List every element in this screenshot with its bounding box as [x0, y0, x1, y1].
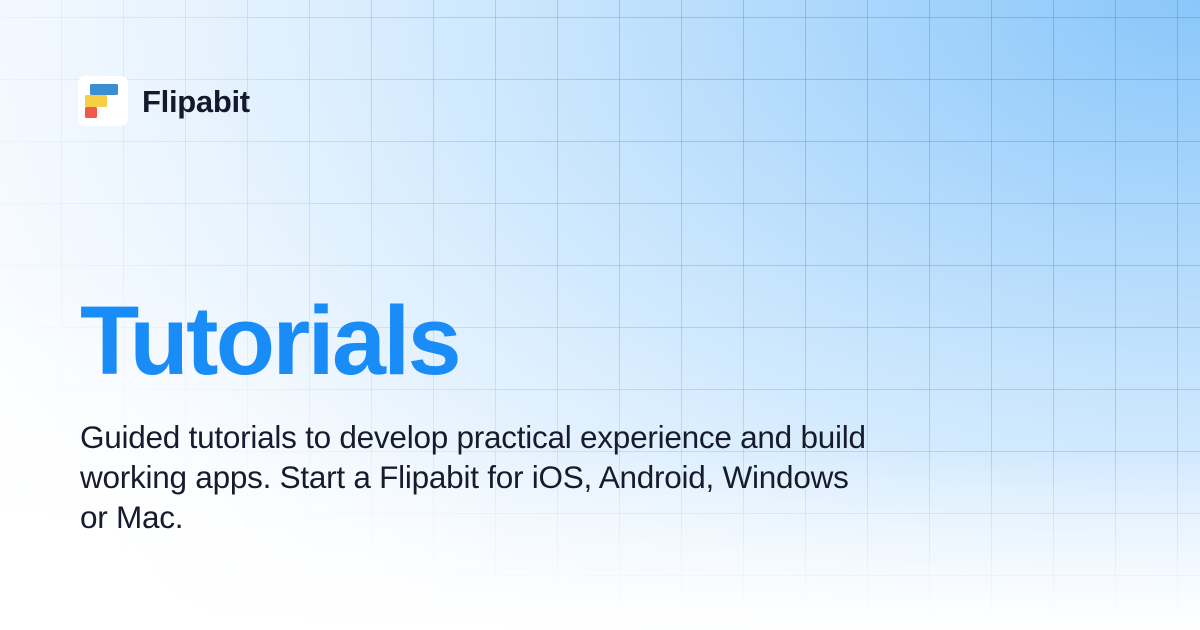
- page-description: Guided tutorials to develop practical ex…: [80, 417, 870, 537]
- brand-lockup[interactable]: Flipabit: [78, 76, 250, 126]
- hero-section: Tutorials Guided tutorials to develop pr…: [80, 292, 920, 537]
- flipabit-blocks-icon: [78, 76, 128, 126]
- logo-block-middle: [85, 95, 107, 107]
- brand-name: Flipabit: [142, 86, 250, 117]
- logo-block-top: [90, 84, 118, 95]
- page-title: Tutorials: [80, 292, 920, 389]
- page-content: Flipabit Tutorials Guided tutorials to d…: [0, 0, 1200, 630]
- logo-block-bottom: [85, 107, 97, 118]
